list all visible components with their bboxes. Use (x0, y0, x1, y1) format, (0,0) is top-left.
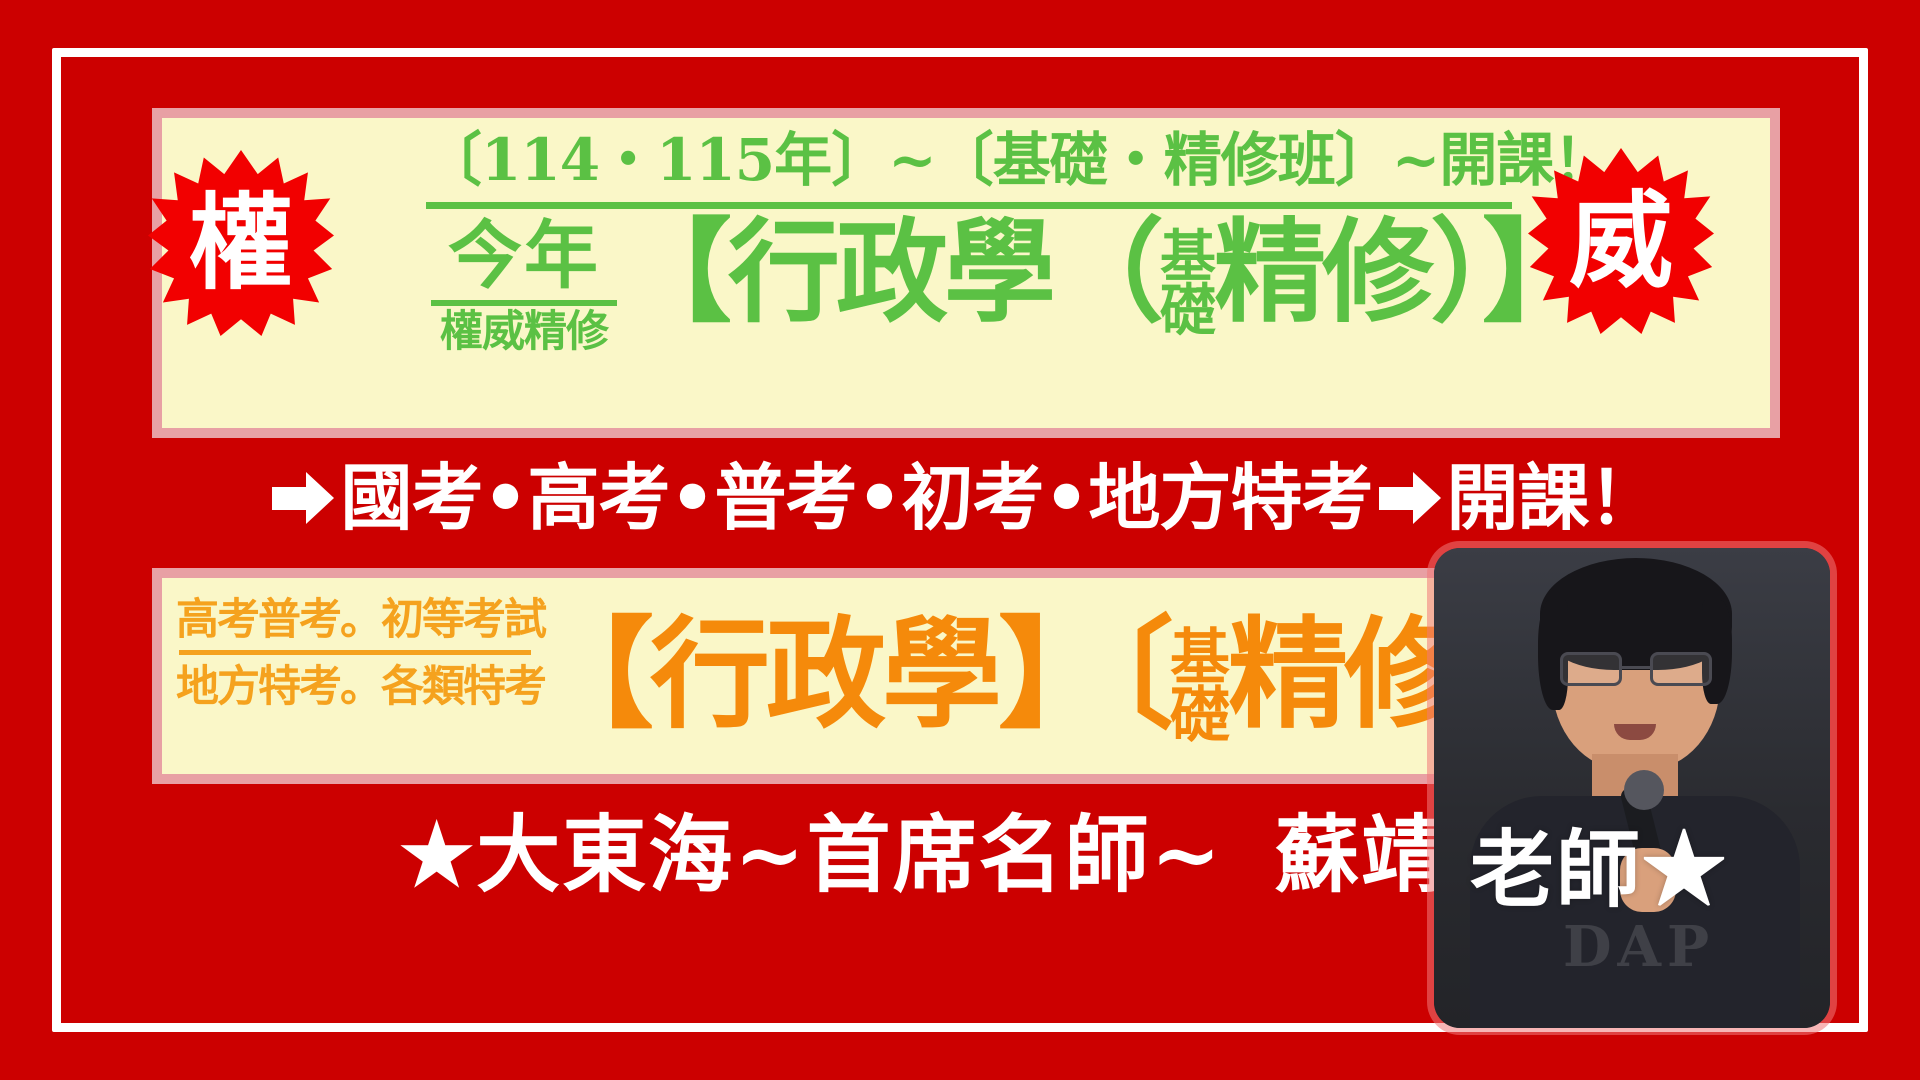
arrow-right-icon (1379, 472, 1441, 524)
exam-scope-line1: 高考普考。初等考試 (176, 592, 534, 648)
exam-scope-stack: 高考普考。初等考試 地方特考。各類特考 (176, 592, 534, 715)
teacher-label-overlay: 老師★ (1470, 820, 1728, 920)
course-title-ruby-top: 基 (1170, 629, 1228, 687)
main-title-ruby-top: 基 (1160, 230, 1214, 284)
exam-types-text: 國考•高考•普考•初考•地方特考 (340, 458, 1372, 538)
main-title-tail: 精修 (1214, 207, 1430, 338)
course-title-ruby-bottom: 礎 (1170, 687, 1228, 745)
exam-types-line: 國考•高考•普考•初考•地方特考 開課！ (130, 448, 1802, 548)
starburst-left-char: 權 (189, 191, 293, 295)
course-title-tail: 精修 (1228, 604, 1460, 745)
glasses-icon (1560, 652, 1712, 686)
starburst-right-char: 威 (1569, 189, 1673, 293)
poster-canvas: 〔114・115年〕~〔基礎・精修班〕~開課！ 今年 權威精修 【行政學（基礎精… (0, 0, 1920, 1080)
starburst-badge-right: 威 (1528, 148, 1714, 334)
main-title-paren-close: ） (1430, 207, 1482, 338)
course-bracket-open: 〔 (1114, 604, 1170, 745)
main-title-ruby-group: 基礎 (1160, 230, 1214, 338)
exam-open-text: 開課！ (1447, 458, 1660, 538)
shirt-print-text: DAP (1544, 914, 1734, 980)
course-title-open: 【行政學】 (534, 604, 1114, 745)
star-left-icon: ★ (399, 805, 476, 905)
course-title-ruby-group: 基礎 (1170, 629, 1228, 745)
exam-scope-rule (179, 650, 531, 655)
main-course-title: 【行政學（基礎精修）】 (620, 210, 1590, 336)
star-right-icon: ★ (1642, 820, 1728, 919)
school-name: 大東海~首席名師~ (476, 805, 1223, 905)
main-title-open: 【行政學 (620, 207, 1052, 338)
presenter-photo: DAP (1434, 548, 1830, 1028)
arrow-right-icon (272, 472, 334, 524)
authority-intensive-label: 權威精修 (424, 306, 624, 358)
main-title-ruby-bottom: 礎 (1160, 284, 1214, 338)
exam-scope-line2: 地方特考。各類特考 (176, 659, 534, 715)
teacher-label: 老師 (1470, 820, 1642, 919)
starburst-badge-left: 權 (148, 150, 334, 336)
main-title-paren-open: （ (1052, 207, 1160, 338)
this-year-stack: 今年 權威精修 (424, 214, 624, 358)
microphone-head-icon (1624, 770, 1664, 810)
this-year-label: 今年 (424, 214, 624, 298)
course-period-line: 〔114・115年〕~〔基礎・精修班〕~開課！ (424, 124, 1514, 196)
